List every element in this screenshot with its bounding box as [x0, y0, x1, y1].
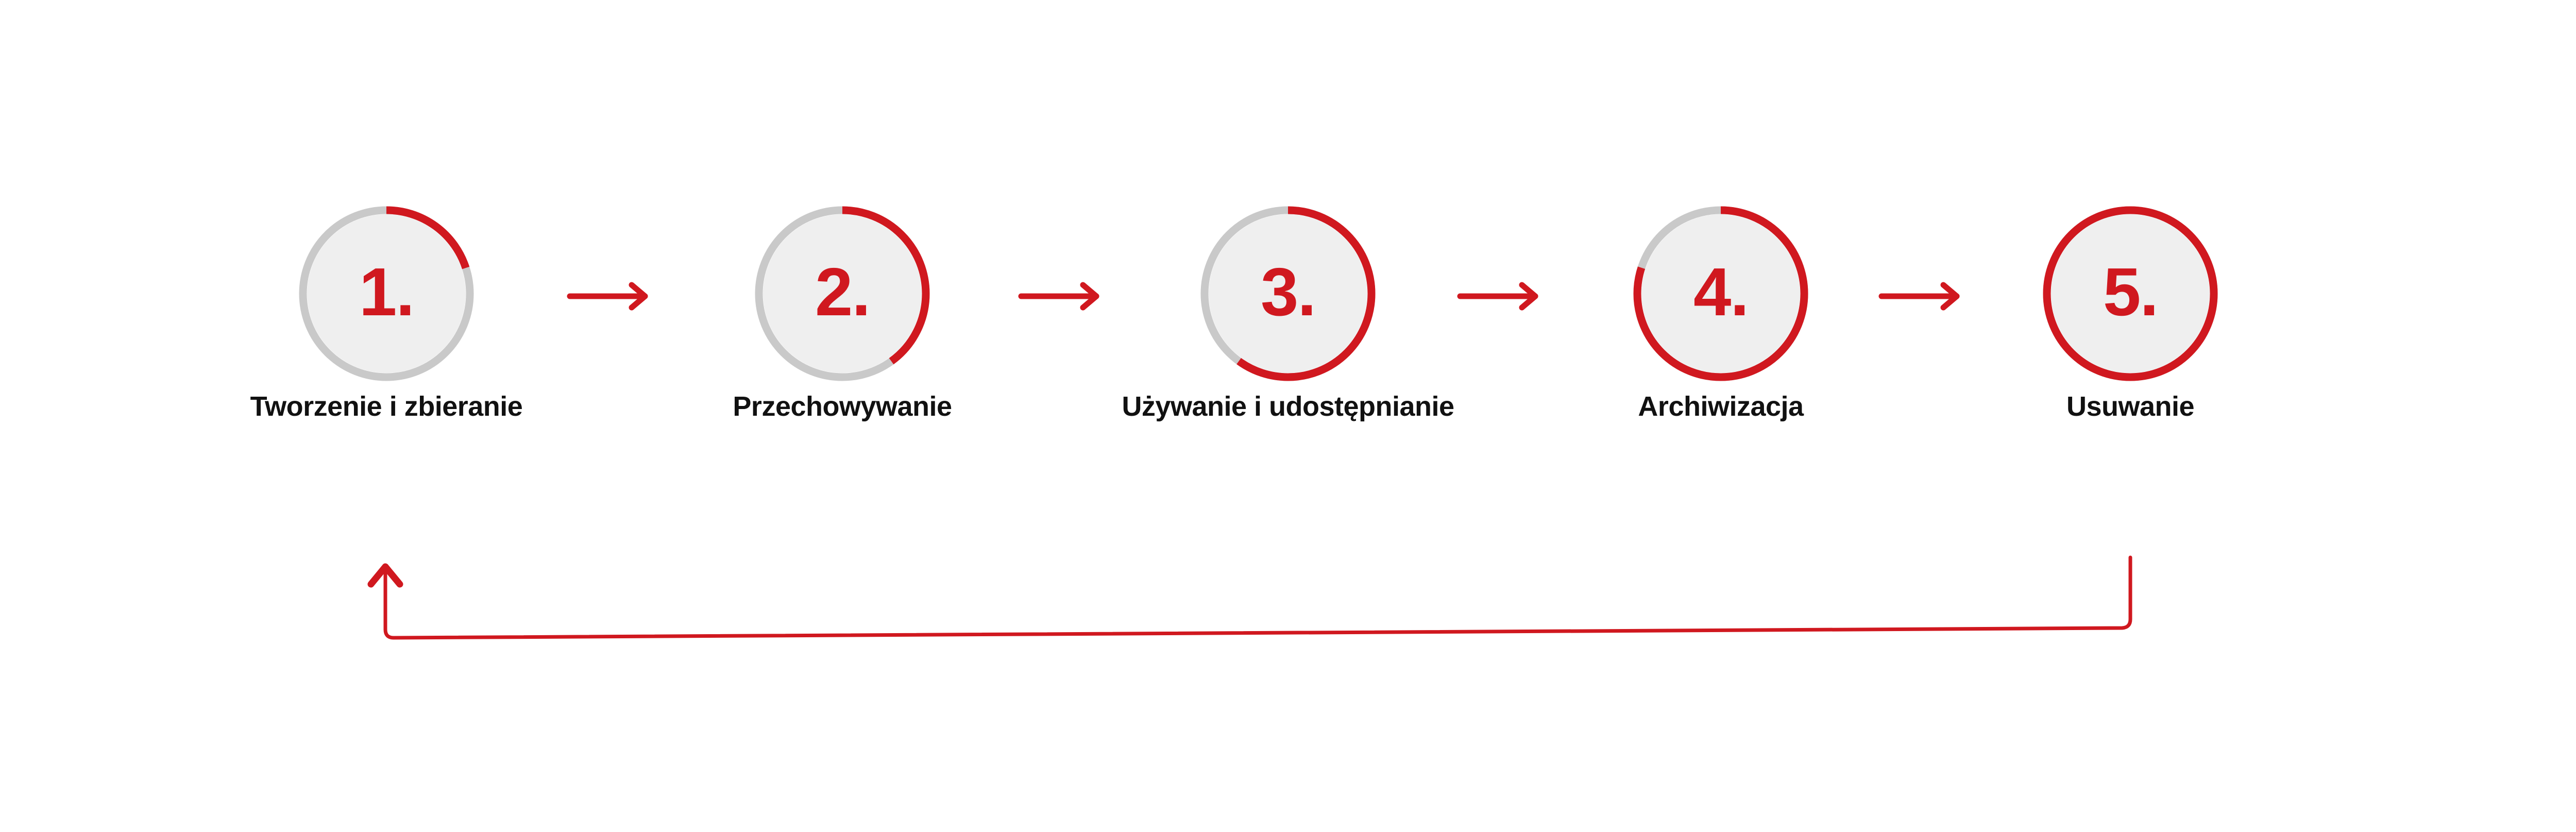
step-label-4: Archiwizacja: [1638, 392, 1803, 422]
step-item-2[interactable]: 2. Przechowywanie: [755, 206, 930, 381]
arrow-right-icon: [1879, 281, 1972, 312]
step-item-4[interactable]: 4. Archiwizacja: [1633, 206, 1808, 381]
step-badge-5[interactable]: 5.: [2043, 206, 2218, 381]
step-number-3: 3.: [1200, 206, 1376, 381]
step-item-5[interactable]: 5. Usuwanie: [2043, 206, 2218, 381]
step-label-3: Używanie i udostępnianie: [1122, 392, 1454, 422]
step-number-5: 5.: [2043, 206, 2218, 381]
step-badge-3[interactable]: 3.: [1200, 206, 1376, 381]
connector-arrow-3-4: [1458, 281, 1551, 312]
step-badge-4[interactable]: 4.: [1633, 206, 1808, 381]
step-row: 1. Tworzenie i zbieranie 2. Przechowywan…: [0, 0, 2576, 515]
step-number-2: 2.: [755, 206, 930, 381]
step-number-4: 4.: [1633, 206, 1808, 381]
step-label-5: Usuwanie: [2066, 392, 2194, 422]
connector-arrow-2-3: [1019, 281, 1112, 312]
connector-arrow-1-2: [568, 281, 660, 312]
step-label-1: Tworzenie i zbieranie: [250, 392, 523, 422]
arrow-right-icon: [568, 281, 660, 312]
step-item-3[interactable]: 3. Używanie i udostępnianie: [1200, 206, 1376, 381]
step-badge-2[interactable]: 2.: [755, 206, 930, 381]
step-item-1[interactable]: 1. Tworzenie i zbieranie: [299, 206, 474, 381]
diagram-canvas: 1. Tworzenie i zbieranie 2. Przechowywan…: [0, 0, 2576, 832]
step-label-2: Przechowywanie: [733, 392, 952, 422]
feedback-loop-path: [385, 557, 2130, 638]
step-badge-1[interactable]: 1.: [299, 206, 474, 381]
step-number-1: 1.: [299, 206, 474, 381]
arrow-right-icon: [1458, 281, 1551, 312]
arrow-right-icon: [1019, 281, 1112, 312]
connector-arrow-4-5: [1879, 281, 1972, 312]
arrow-up-icon: [371, 567, 400, 584]
